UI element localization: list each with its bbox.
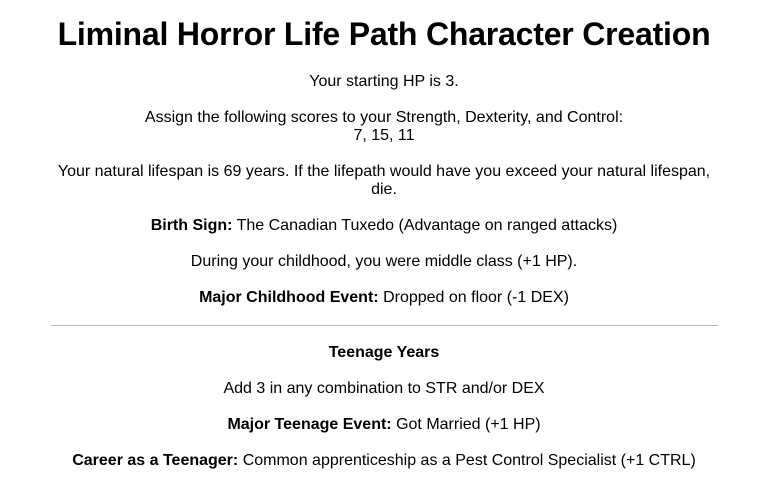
section-divider — [51, 325, 718, 326]
teenage-section-heading: Teenage Years — [51, 344, 718, 362]
teenage-career-label: Career as a Teenager: — [72, 452, 238, 469]
birth-sign-line: Birth Sign: The Canadian Tuxedo (Advanta… — [51, 217, 718, 235]
assign-scores-values: 7, 15, 11 — [353, 127, 414, 144]
assign-scores-line: Assign the following scores to your Stre… — [51, 109, 718, 145]
major-childhood-event-line: Major Childhood Event: Dropped on floor … — [51, 289, 718, 307]
teenage-career-value: Common apprenticeship as a Pest Control … — [243, 452, 696, 469]
major-childhood-event-label: Major Childhood Event: — [199, 289, 379, 306]
birth-sign-label: Birth Sign: — [151, 217, 233, 234]
teenage-career-line: Career as a Teenager: Common apprentices… — [51, 452, 718, 470]
assign-scores-label: Assign the following scores to your Stre… — [145, 109, 623, 126]
childhood-class-line: During your childhood, you were middle c… — [51, 253, 718, 271]
major-teenage-event-label: Major Teenage Event: — [227, 416, 391, 433]
birth-sign-value: The Canadian Tuxedo (Advantage on ranged… — [237, 217, 618, 234]
major-teenage-event-value: Got Married (+1 HP) — [396, 416, 540, 433]
lifespan-line: Your natural lifespan is 69 years. If th… — [51, 163, 718, 199]
major-teenage-event-line: Major Teenage Event: Got Married (+1 HP) — [51, 416, 718, 434]
character-sheet-page: Liminal Horror Life Path Character Creat… — [51, 0, 718, 470]
page-title: Liminal Horror Life Path Character Creat… — [51, 16, 718, 53]
teenage-bonus-line: Add 3 in any combination to STR and/or D… — [51, 380, 718, 398]
starting-hp-line: Your starting HP is 3. — [51, 73, 718, 91]
major-childhood-event-value: Dropped on floor (-1 DEX) — [383, 289, 569, 306]
